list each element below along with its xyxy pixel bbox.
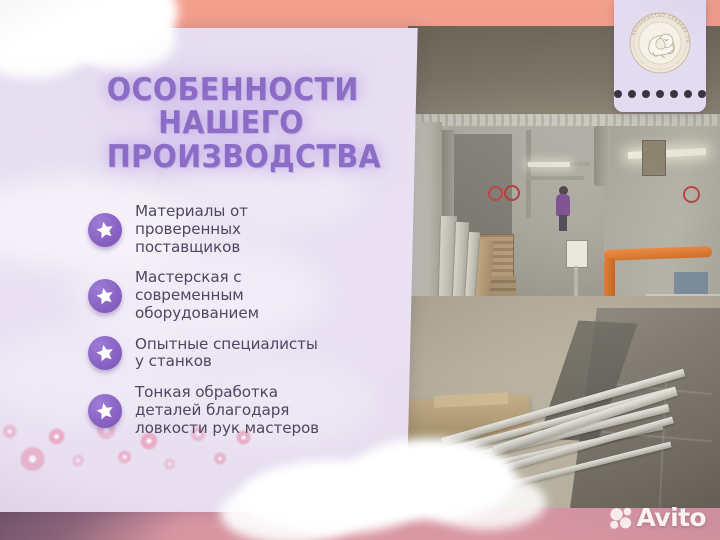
- promo-slide: ОСОБЕННОСТИ НАШЕГО ПРОИЗВОДСТВА Материал…: [0, 0, 720, 540]
- edge-vignette: [0, 0, 720, 540]
